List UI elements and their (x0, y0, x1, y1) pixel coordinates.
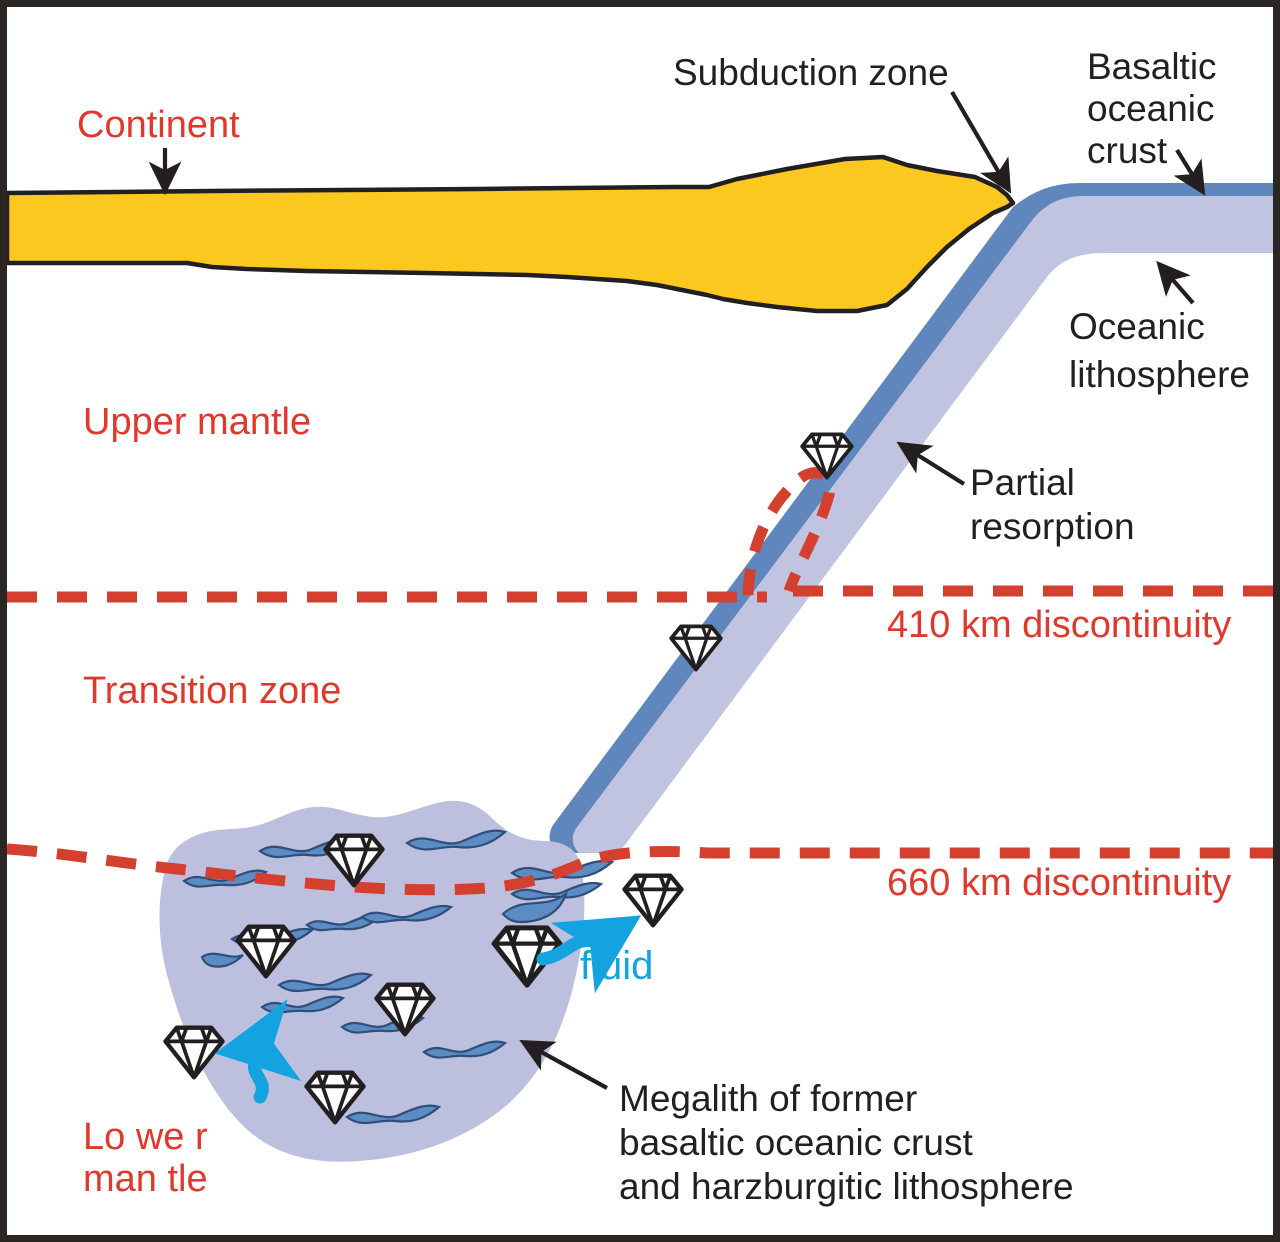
label-fluid: fluid (580, 945, 653, 987)
diamond-icon (624, 876, 681, 926)
label-lower-mantle-line2: man tle (83, 1159, 208, 1199)
continental-crust (7, 157, 1013, 311)
label-basaltic-oceanic-crust-line1: Basaltic (1087, 47, 1217, 86)
label-transition-zone: Transition zone (83, 671, 341, 711)
label-discontinuity-410: 410 km discontinuity (887, 605, 1231, 645)
figure-canvas: Continent Subduction zone Basaltic ocean… (0, 0, 1280, 1242)
label-megalith-line2: basaltic oceanic crust (619, 1123, 973, 1162)
oceanic-lithosphere-body (564, 195, 1273, 853)
label-upper-mantle: Upper mantle (83, 402, 311, 442)
leader-arrow-icon (1159, 264, 1193, 303)
label-megalith-line3: and harzburgitic lithosphere (619, 1167, 1074, 1206)
label-oceanic-lithosphere-line2: lithosphere (1069, 355, 1250, 394)
label-discontinuity-660: 660 km discontinuity (887, 863, 1231, 903)
label-subduction-zone: Subduction zone (673, 53, 949, 92)
label-partial-resorption-line1: Partial (970, 463, 1075, 502)
label-lower-mantle-line1: Lo we r (83, 1117, 208, 1157)
leader-arrow-icon (900, 444, 964, 484)
label-megalith-line1: Megalith of former (619, 1079, 917, 1118)
label-basaltic-oceanic-crust-line2: oceanic (1087, 89, 1215, 128)
label-basaltic-oceanic-crust-line3: crust (1087, 131, 1167, 170)
label-partial-resorption-line2: resorption (970, 507, 1135, 546)
label-oceanic-lithosphere-line1: Oceanic (1069, 307, 1205, 346)
label-continent: Continent (77, 105, 240, 145)
